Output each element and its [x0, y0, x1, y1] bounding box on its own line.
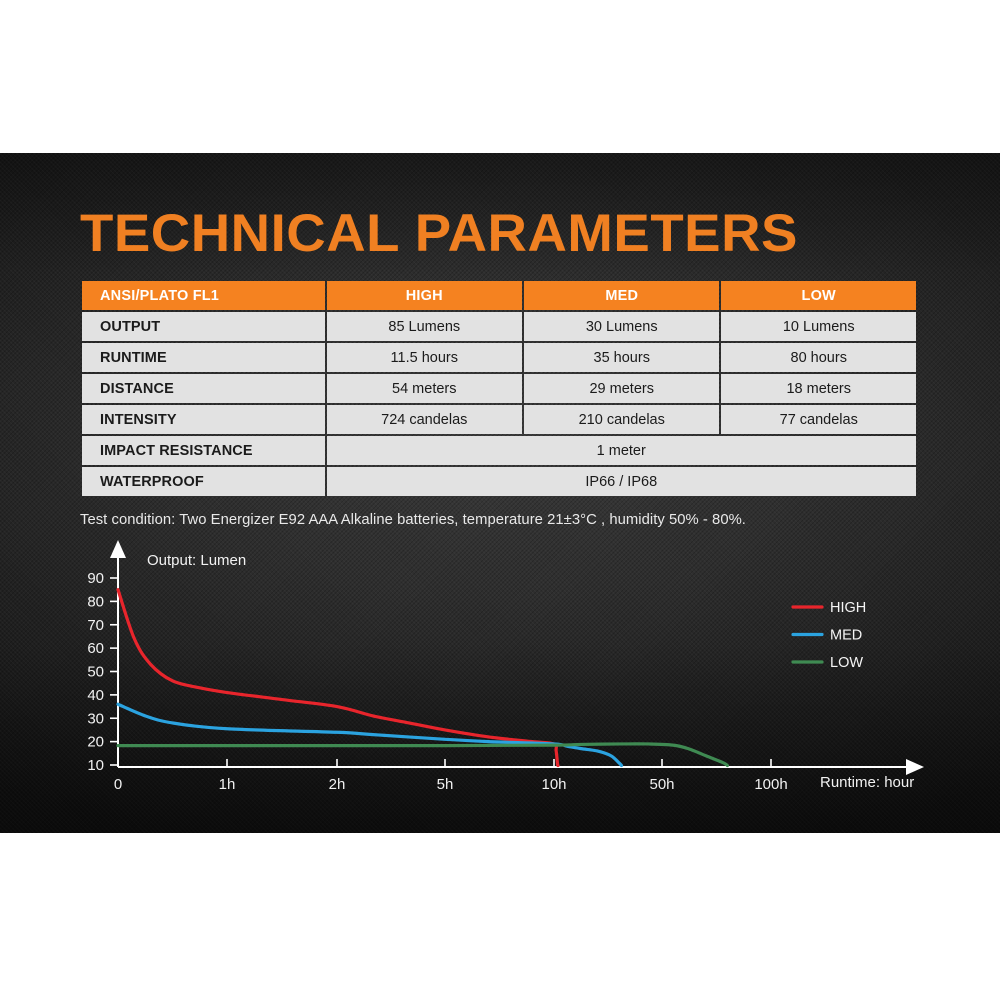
table-cell: 85 Lumens — [327, 312, 522, 341]
table-row: OUTPUT85 Lumens30 Lumens10 Lumens — [82, 312, 916, 341]
table-row: IMPACT RESISTANCE1 meter — [82, 436, 916, 465]
legend-label-med: MED — [830, 628, 862, 644]
table-cell: 30 Lumens — [524, 312, 719, 341]
y-tick-label: 30 — [87, 710, 104, 727]
page-root: TECHNICAL PARAMETERS ANSI/PLATO FL1 HIGH… — [0, 0, 1000, 1000]
x-axis-ticks: 01h2h5h10h50h100h — [114, 759, 788, 793]
x-tick-label: 5h — [437, 776, 454, 793]
table-header-row: ANSI/PLATO FL1 HIGH MED LOW — [82, 281, 916, 310]
test-condition-note: Test condition: Two Energizer E92 AAA Al… — [80, 512, 746, 528]
table-cell: 77 candelas — [721, 405, 916, 434]
page-title: TECHNICAL PARAMETERS — [80, 203, 798, 264]
table-row: RUNTIME11.5 hours35 hours80 hours — [82, 343, 916, 372]
x-tick-label: 100h — [754, 776, 787, 793]
table-row-label: DISTANCE — [82, 374, 325, 403]
x-tick-label: 1h — [219, 776, 236, 793]
x-tick-label: 50h — [649, 776, 674, 793]
y-axis-ticks: 102030405060708090 — [87, 570, 118, 774]
y-tick-label: 60 — [87, 640, 104, 657]
x-tick-label: 0 — [114, 776, 122, 793]
table-row: DISTANCE54 meters29 meters18 meters — [82, 374, 916, 403]
chart-svg: 102030405060708090 01h2h5h10h50h100h Out… — [0, 540, 1000, 800]
table-row-label: OUTPUT — [82, 312, 325, 341]
table-cell: 29 meters — [524, 374, 719, 403]
table-row-label: WATERPROOF — [82, 467, 325, 496]
y-tick-label: 80 — [87, 593, 104, 610]
x-axis-label: Runtime: hour — [820, 774, 914, 791]
table-cell: 210 candelas — [524, 405, 719, 434]
technical-parameters-table: ANSI/PLATO FL1 HIGH MED LOW OUTPUT85 Lum… — [80, 279, 918, 498]
table-row: INTENSITY724 candelas210 candelas77 cand… — [82, 405, 916, 434]
table-header-ansi: ANSI/PLATO FL1 — [82, 281, 325, 310]
table-cell: 35 hours — [524, 343, 719, 372]
series-line-low — [118, 744, 727, 766]
table-cell: 80 hours — [721, 343, 916, 372]
y-tick-label: 90 — [87, 570, 104, 587]
legend-label-high: HIGH — [830, 600, 866, 616]
chart-legend: HIGHMEDLOW — [793, 600, 866, 671]
table-cell-merged: 1 meter — [327, 436, 916, 465]
table-cell-merged: IP66 / IP68 — [327, 467, 916, 496]
y-tick-label: 70 — [87, 617, 104, 634]
table-cell: 10 Lumens — [721, 312, 916, 341]
y-tick-label: 10 — [87, 757, 104, 774]
y-axis-label: Output: Lumen — [147, 552, 246, 569]
table-row-label: IMPACT RESISTANCE — [82, 436, 325, 465]
table-body: OUTPUT85 Lumens30 Lumens10 LumensRUNTIME… — [82, 312, 916, 496]
table-row-label: RUNTIME — [82, 343, 325, 372]
x-tick-label: 2h — [329, 776, 346, 793]
series-line-high — [118, 590, 558, 766]
y-tick-label: 40 — [87, 687, 104, 704]
table-cell: 18 meters — [721, 374, 916, 403]
table-header-high: HIGH — [327, 281, 522, 310]
table-header-med: MED — [524, 281, 719, 310]
table-cell: 54 meters — [327, 374, 522, 403]
table-row-label: INTENSITY — [82, 405, 325, 434]
legend-label-low: LOW — [830, 655, 863, 671]
y-tick-label: 20 — [87, 734, 104, 751]
table-header-low: LOW — [721, 281, 916, 310]
chart-series-group — [118, 590, 727, 766]
runtime-output-chart: 102030405060708090 01h2h5h10h50h100h Out… — [0, 540, 1000, 800]
table-row: WATERPROOFIP66 / IP68 — [82, 467, 916, 496]
series-line-med — [118, 704, 622, 765]
table-cell: 724 candelas — [327, 405, 522, 434]
y-tick-label: 50 — [87, 664, 104, 681]
x-tick-label: 10h — [541, 776, 566, 793]
table-cell: 11.5 hours — [327, 343, 522, 372]
